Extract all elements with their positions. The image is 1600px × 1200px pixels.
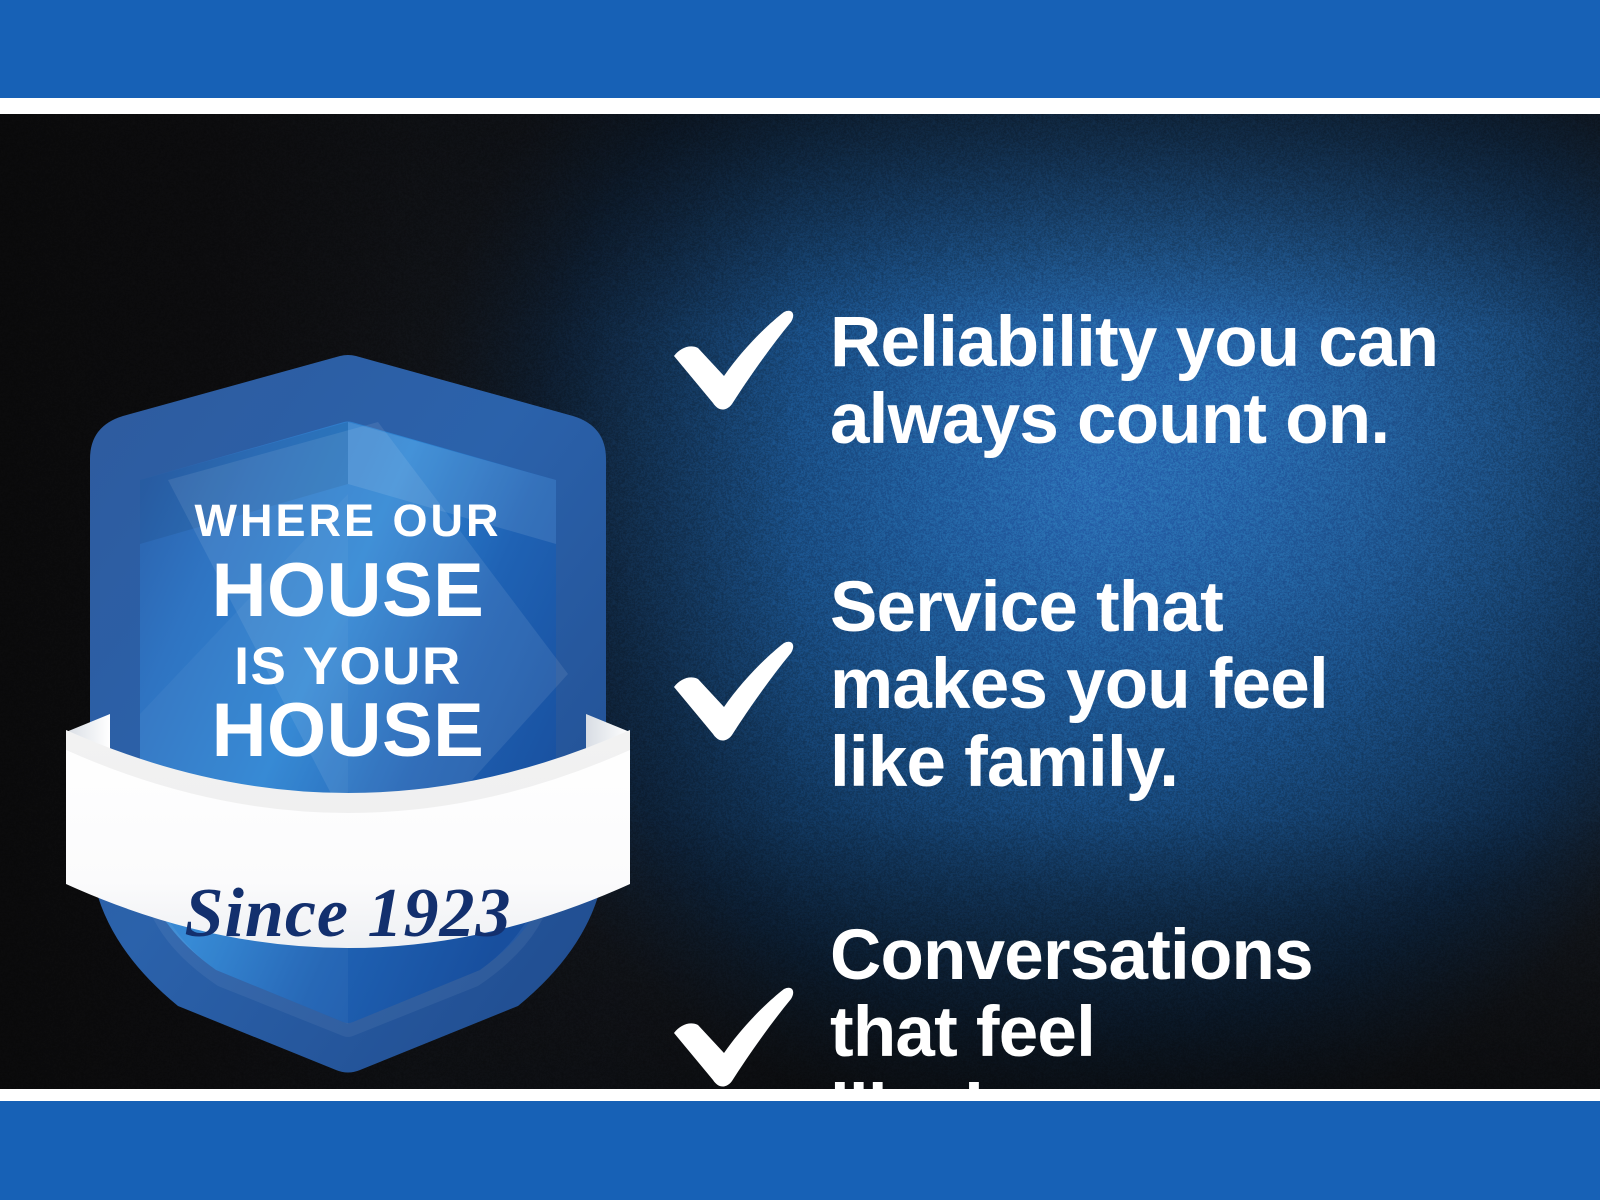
benefit-text-reliability: Reliability you can always count on. (830, 304, 1488, 459)
bottom-brand-bar (0, 1101, 1600, 1200)
main-stage: WHERE OUR HOUSE IS YOUR HOUSE Sin (0, 114, 1600, 1089)
top-brand-bar (0, 0, 1600, 98)
heritage-shield-badge: WHERE OUR HOUSE IS YOUR HOUSE Sin (48, 244, 648, 1074)
top-white-divider (0, 98, 1600, 114)
checkmark-icon (668, 635, 798, 745)
benefits-list: Reliability you can always count on. Ser… (668, 304, 1488, 1089)
benefit-item-service: Service that makes you feel like family. (668, 569, 1488, 801)
checkmark-icon (668, 981, 798, 1089)
benefit-item-conversations: Conversations that feel like home. (668, 917, 1488, 1089)
shield-line-4: HOUSE (212, 688, 485, 773)
benefit-item-reliability: Reliability you can always count on. (668, 304, 1488, 459)
shield-line-1: WHERE OUR (195, 495, 502, 546)
benefit-text-service: Service that makes you feel like family. (830, 569, 1488, 801)
ribbon-since-text: Since 1923 (185, 875, 512, 952)
benefit-text-conversations: Conversations that feel like home. (830, 917, 1488, 1089)
promotional-poster: WHERE OUR HOUSE IS YOUR HOUSE Sin (0, 0, 1600, 1200)
shield-line-2: HOUSE (212, 548, 485, 633)
checkmark-icon (668, 304, 798, 414)
bottom-white-divider (0, 1089, 1600, 1101)
